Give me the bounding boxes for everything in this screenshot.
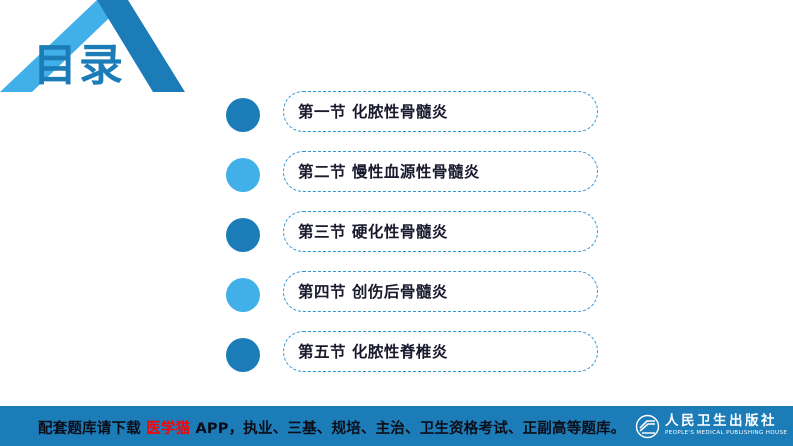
toc-item-label: 第四节 创伤后骨髓炎	[298, 280, 448, 302]
publisher-name-cn: 人民卫生出版社	[665, 415, 787, 429]
publisher-seal-icon	[635, 414, 660, 439]
publisher-names: 人民卫生出版社 PEOPLE'S MEDICAL PUBLISHING HOUS…	[665, 415, 787, 436]
publisher-logo: 人民卫生出版社 PEOPLE'S MEDICAL PUBLISHING HOUS…	[635, 412, 785, 440]
footer-text-before: 配套题库请下载	[38, 421, 146, 437]
list-item[interactable]: 第二节 慢性血源性骨髓炎	[226, 148, 616, 208]
list-item[interactable]: 第五节 化脓性脊椎炎	[226, 328, 616, 388]
table-of-contents: 第一节 化脓性骨髓炎 第二节 慢性血源性骨髓炎 第三节 硬化性骨髓炎 第四节 创…	[226, 88, 616, 388]
toc-item-label: 第五节 化脓性脊椎炎	[298, 340, 448, 362]
bullet-circle-icon	[226, 278, 260, 312]
footer-text-highlight: 医学猫	[146, 421, 190, 437]
bullet-circle-icon	[226, 338, 260, 372]
toc-item-label: 第三节 硬化性骨髓炎	[298, 220, 448, 242]
list-item[interactable]: 第三节 硬化性骨髓炎	[226, 208, 616, 268]
footer-text-after: APP，执业、三基、规培、主治、卫生资格考试、正副高等题库。	[190, 421, 625, 437]
bullet-circle-icon	[226, 218, 260, 252]
toc-item-label: 第一节 化脓性骨髓炎	[298, 100, 448, 122]
list-item[interactable]: 第四节 创伤后骨髓炎	[226, 268, 616, 328]
slide-root: 目录 第一节 化脓性骨髓炎 第二节 慢性血源性骨髓炎 第三节 硬化性骨髓炎 第四…	[0, 0, 793, 446]
title-block: 目录	[0, 0, 215, 100]
bullet-circle-icon	[226, 158, 260, 192]
toc-item-label: 第二节 慢性血源性骨髓炎	[298, 160, 480, 182]
list-item[interactable]: 第一节 化脓性骨髓炎	[226, 88, 616, 148]
publisher-name-en: PEOPLE'S MEDICAL PUBLISHING HOUSE	[665, 431, 787, 437]
page-title: 目录	[33, 44, 125, 88]
footer-promo-text: 配套题库请下载 医学猫 APP，执业、三基、规培、主治、卫生资格考试、正副高等题…	[38, 417, 626, 438]
bullet-circle-icon	[226, 98, 260, 132]
footer-bar: 配套题库请下载 医学猫 APP，执业、三基、规培、主治、卫生资格考试、正副高等题…	[0, 406, 793, 446]
